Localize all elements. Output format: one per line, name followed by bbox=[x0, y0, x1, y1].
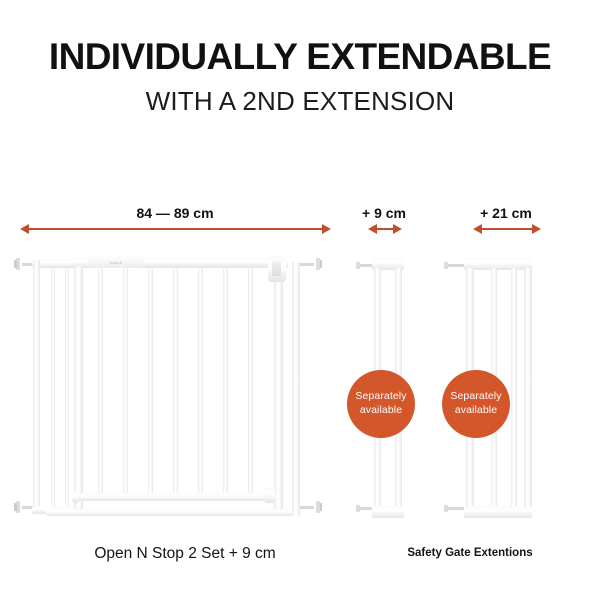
gate-threshold-knob-left bbox=[72, 491, 79, 503]
badge-line-2: available bbox=[360, 404, 402, 418]
gate-bar bbox=[223, 268, 228, 496]
arrow-head-right-icon bbox=[532, 224, 541, 234]
extension-bar bbox=[65, 268, 69, 514]
gate-door-left-post bbox=[74, 266, 83, 516]
measure-label-extension-9cm: + 9 cm bbox=[348, 205, 420, 221]
page-subheadline: WITH A 2ND EXTENSION bbox=[0, 86, 600, 117]
measure-label-main-gate-width: 84 — 89 cm bbox=[20, 205, 330, 221]
mount-cup bbox=[356, 262, 360, 269]
extension21-bar bbox=[511, 268, 517, 512]
arrow-head-right-icon bbox=[393, 224, 402, 234]
extension9-bottom-rail bbox=[372, 506, 404, 518]
gate-threshold-bar bbox=[76, 493, 276, 501]
product-illustration-stage: hauck Separately available bbox=[0, 248, 600, 533]
extension-bar bbox=[51, 268, 55, 514]
gate-bar bbox=[248, 268, 253, 496]
mount-cup bbox=[16, 258, 20, 270]
mount-cup bbox=[444, 505, 448, 512]
brand-logo-badge: hauck bbox=[88, 256, 144, 268]
dimension-arrow-main-gate bbox=[20, 223, 331, 234]
gate-bar bbox=[173, 268, 178, 496]
mount-cup bbox=[356, 505, 360, 512]
mount-cup bbox=[16, 501, 20, 513]
gate-door-right-post bbox=[274, 266, 283, 516]
badge-separately-available-9cm: Separately available bbox=[347, 370, 415, 438]
arrow-shaft bbox=[25, 228, 326, 230]
arrow-head-right-icon bbox=[322, 224, 331, 234]
arrow-shaft bbox=[478, 228, 536, 230]
extension21-bottom-rail bbox=[464, 506, 532, 518]
mount-cap bbox=[320, 503, 323, 511]
gate-bar bbox=[98, 268, 103, 496]
caption-main-gate: Open N Stop 2 Set + 9 cm bbox=[20, 545, 350, 563]
extension21-top-rail bbox=[464, 258, 532, 270]
gate-bar bbox=[148, 268, 153, 496]
dimension-arrow-extension-21cm bbox=[473, 223, 541, 234]
badge-line-1: Separately bbox=[355, 390, 406, 404]
mount-cap bbox=[320, 260, 323, 268]
extension-outer-post bbox=[33, 260, 40, 513]
measure-label-extension-21cm: + 21 cm bbox=[458, 205, 554, 221]
mount-cup bbox=[444, 262, 448, 269]
brand-logo-text: hauck bbox=[110, 260, 122, 265]
gate-bottom-base-rail bbox=[46, 509, 292, 516]
badge-separately-available-21cm: Separately available bbox=[442, 370, 510, 438]
badge-line-1: Separately bbox=[450, 390, 501, 404]
gate-right-fixed-post bbox=[292, 262, 300, 516]
badge-line-2: available bbox=[455, 404, 497, 418]
dimension-arrow-extension-9cm bbox=[368, 223, 402, 234]
mount-cap bbox=[14, 260, 17, 268]
page-headline: INDIVIDUALLY EXTENDABLE bbox=[0, 38, 600, 77]
caption-extensions: Safety Gate Extentions bbox=[350, 547, 590, 559]
gate-threshold-knob-right bbox=[264, 488, 275, 503]
latch-button[interactable] bbox=[272, 261, 281, 276]
mount-cap bbox=[14, 503, 17, 511]
extension21-right-post bbox=[524, 268, 532, 512]
gate-bar bbox=[198, 268, 203, 496]
gate-bar bbox=[123, 268, 128, 496]
